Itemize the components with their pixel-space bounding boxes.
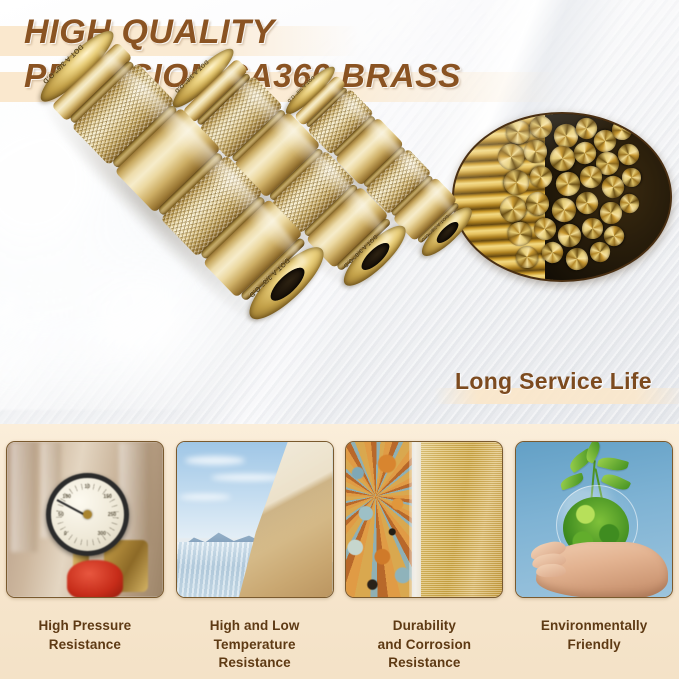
feature-image-corrosion (345, 441, 503, 598)
feature-caption-eco: Environmentally Friendly (541, 617, 648, 654)
feature-item-pressure: 10 150 250 300 0 50 100 High Pressure Re… (0, 441, 170, 673)
feature-image-eco (515, 441, 673, 598)
brass-rod-inset (452, 112, 672, 282)
features-grid: 10 150 250 300 0 50 100 High Pressure Re… (0, 441, 679, 673)
inset-sheen (454, 114, 670, 280)
feature-item-corrosion: Durability and Corrosion Resistance (340, 441, 510, 673)
features-section: 10 150 250 300 0 50 100 High Pressure Re… (0, 424, 679, 679)
gauge-red-handle (67, 560, 123, 598)
feature-item-eco: Environmentally Friendly (509, 441, 679, 673)
tagline: Long Service Life (455, 368, 652, 395)
gauge-hub (83, 510, 92, 519)
feature-image-pressure: 10 150 250 300 0 50 100 (6, 441, 164, 598)
product-infographic: HIGH QUALITY PRECISION CA360 BRASS DOT A… (0, 0, 679, 679)
feature-caption-pressure: High Pressure Resistance (38, 617, 131, 654)
leaf (597, 455, 629, 474)
green-earth-in-hand-photo (516, 442, 672, 597)
ice-and-desert-photo (177, 442, 333, 597)
feature-image-temperature (176, 441, 334, 598)
corroded-surface (346, 442, 412, 597)
gauge-dial: 10 150 250 300 0 50 100 (46, 473, 129, 556)
polished-brass-surface (421, 442, 502, 597)
hero-section: HIGH QUALITY PRECISION CA360 BRASS DOT A… (0, 0, 679, 424)
pressure-gauge-photo: 10 150 250 300 0 50 100 (7, 442, 163, 597)
feature-item-temperature: High and Low Temperature Resistance (170, 441, 340, 673)
feature-caption-temperature: High and Low Temperature Resistance (210, 617, 300, 673)
feature-caption-corrosion: Durability and Corrosion Resistance (378, 617, 472, 673)
corrosion-vs-brass-photo (346, 442, 502, 597)
